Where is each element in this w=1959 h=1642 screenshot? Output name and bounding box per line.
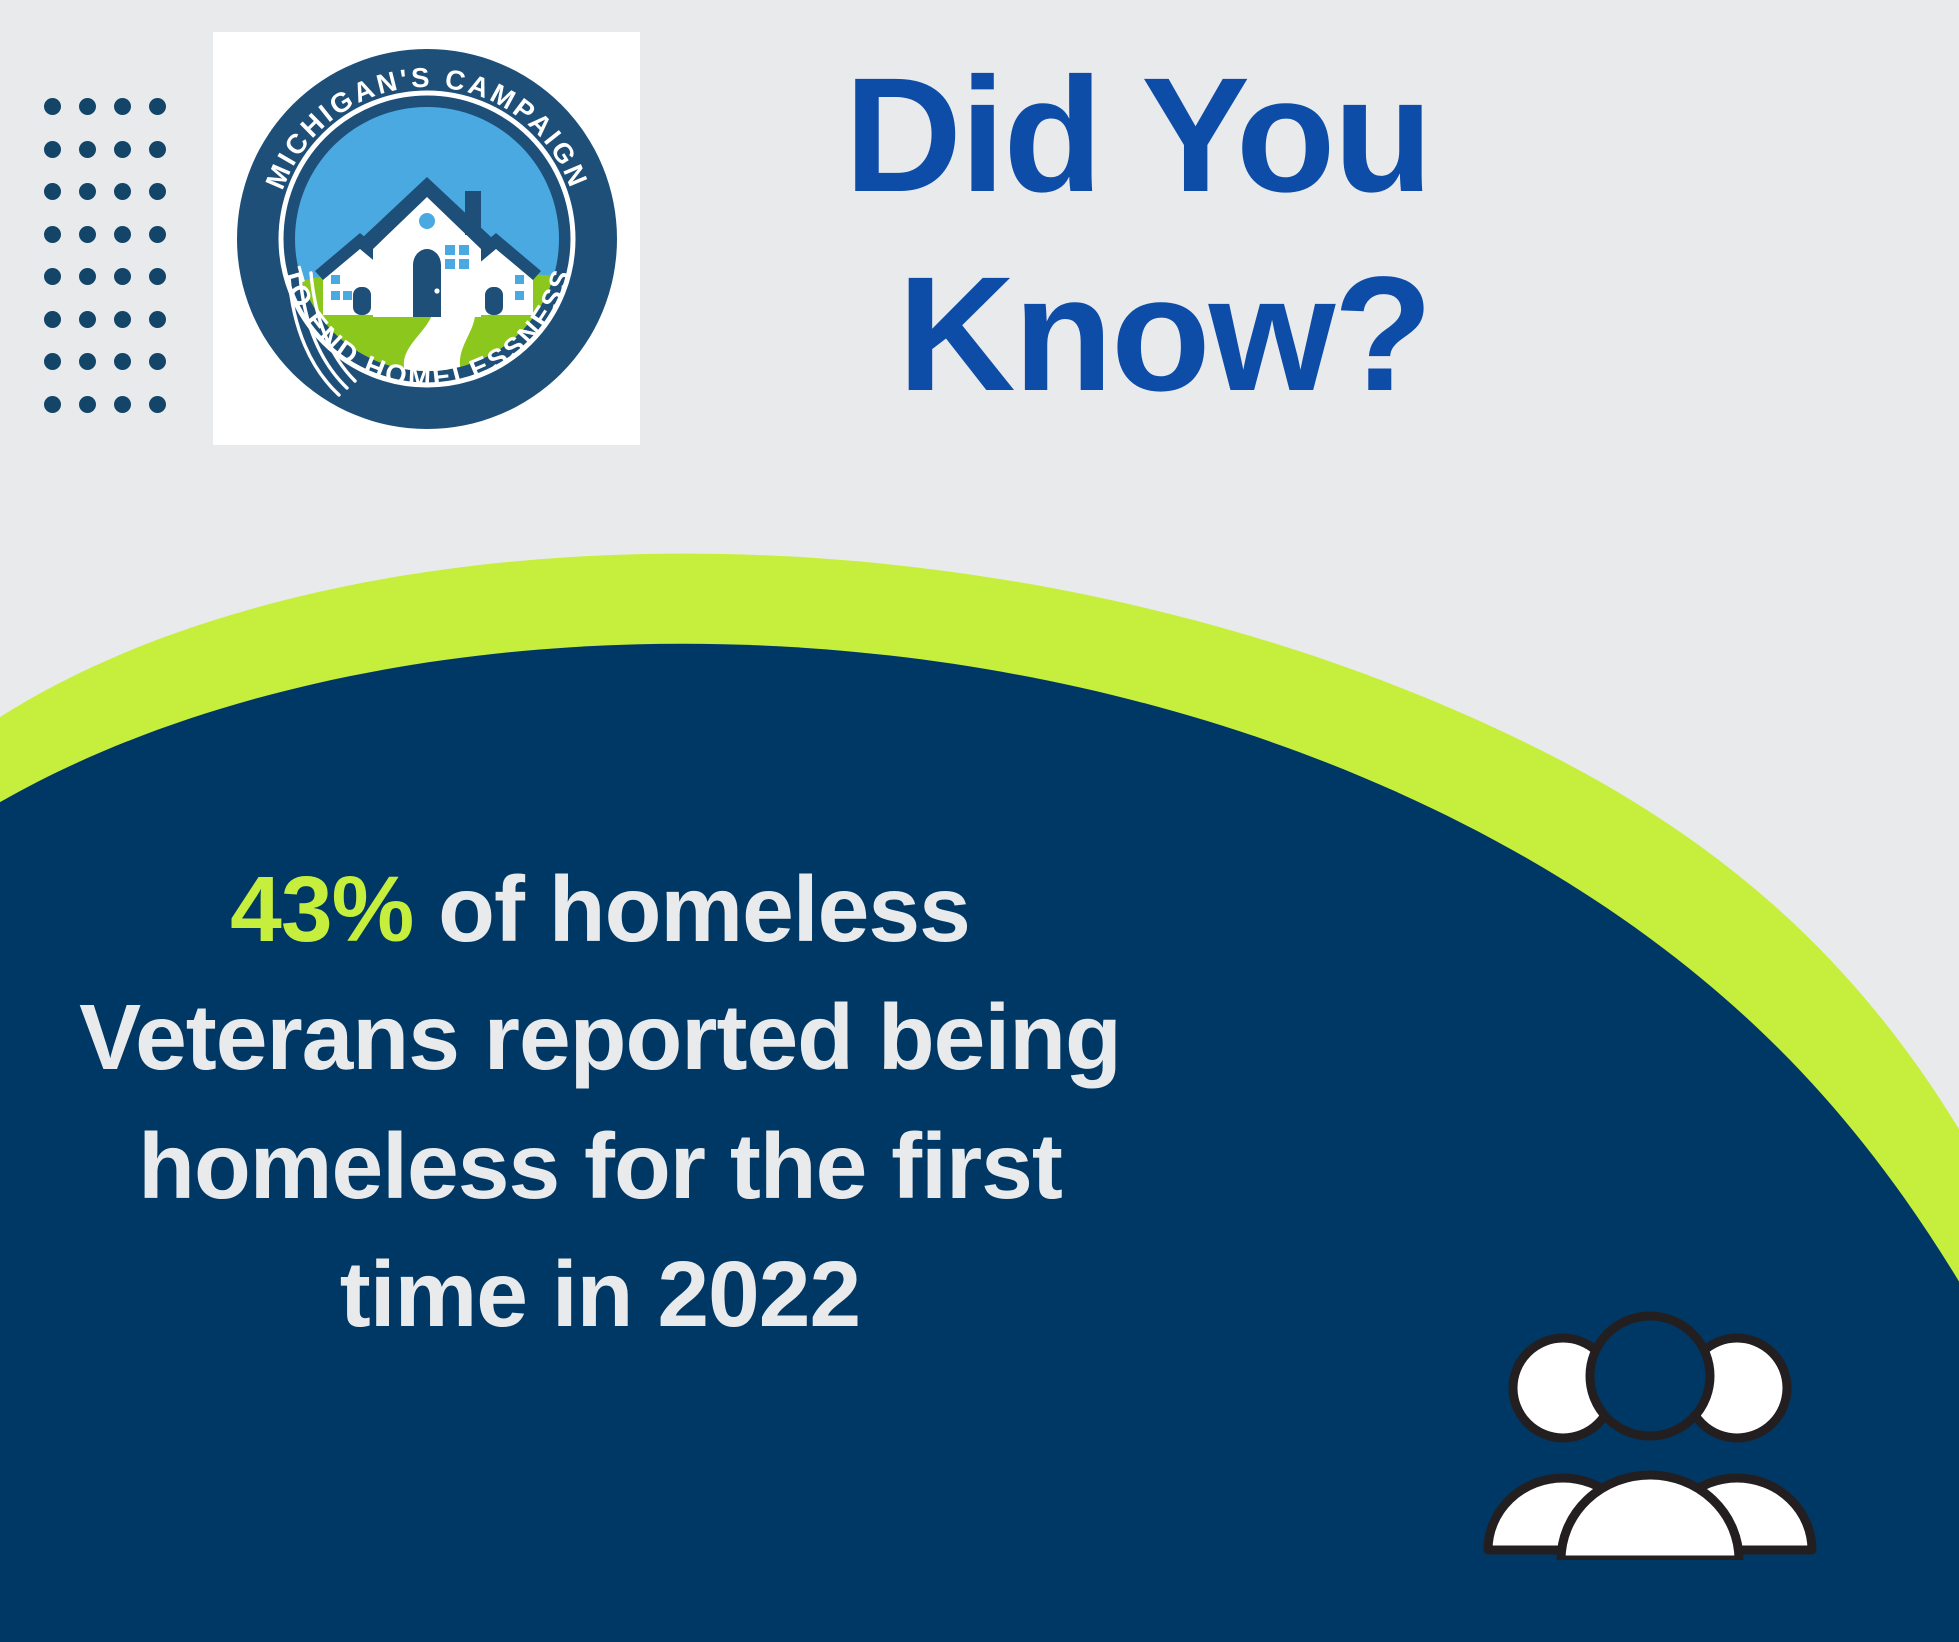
stat-line-1-rest: of homeless bbox=[413, 857, 970, 961]
grid-dot bbox=[44, 396, 61, 413]
grid-dot bbox=[79, 353, 96, 370]
grid-dot bbox=[114, 268, 131, 285]
grid-dot bbox=[79, 183, 96, 200]
grid-dot bbox=[44, 353, 61, 370]
grid-dot bbox=[149, 396, 166, 413]
statistic-text: 43% of homeless Veterans reported being … bbox=[60, 845, 1140, 1358]
grid-dot bbox=[114, 226, 131, 243]
stat-line-2: Veterans reported being bbox=[60, 973, 1140, 1101]
grid-dot bbox=[79, 268, 96, 285]
grid-dot bbox=[44, 268, 61, 285]
grid-dot bbox=[44, 311, 61, 328]
stat-line-1: 43% of homeless bbox=[60, 845, 1140, 973]
grid-dot bbox=[149, 226, 166, 243]
grid-dot bbox=[44, 183, 61, 200]
grid-dot bbox=[149, 98, 166, 115]
grid-dot bbox=[149, 311, 166, 328]
grid-dot bbox=[149, 353, 166, 370]
infographic-poster: MICHIGAN'S CAMPAIGN TO END HOMELESSNESS … bbox=[0, 0, 1959, 1642]
dot-grid-pattern bbox=[44, 98, 184, 438]
grid-dot bbox=[149, 141, 166, 158]
grid-dot bbox=[114, 183, 131, 200]
group-of-people-icon bbox=[1470, 1300, 1830, 1560]
grid-dot bbox=[79, 396, 96, 413]
grid-dot bbox=[79, 141, 96, 158]
grid-dot bbox=[114, 98, 131, 115]
grid-dot bbox=[44, 141, 61, 158]
grid-dot bbox=[44, 98, 61, 115]
grid-dot bbox=[114, 396, 131, 413]
grid-dot bbox=[79, 226, 96, 243]
grid-dot bbox=[79, 311, 96, 328]
grid-dot bbox=[149, 183, 166, 200]
grid-dot bbox=[79, 98, 96, 115]
grid-dot bbox=[114, 353, 131, 370]
stat-line-4: time in 2022 bbox=[60, 1230, 1140, 1358]
stat-line-3: homeless for the first bbox=[60, 1102, 1140, 1230]
headline-line-1: Did You bbox=[531, 36, 1431, 235]
grid-dot bbox=[44, 226, 61, 243]
page-title: Did You Know? bbox=[531, 36, 1431, 434]
grid-dot bbox=[114, 141, 131, 158]
headline-line-2: Know? bbox=[531, 235, 1431, 434]
grid-dot bbox=[114, 311, 131, 328]
stat-percent: 43% bbox=[230, 857, 413, 961]
grid-dot bbox=[149, 268, 166, 285]
